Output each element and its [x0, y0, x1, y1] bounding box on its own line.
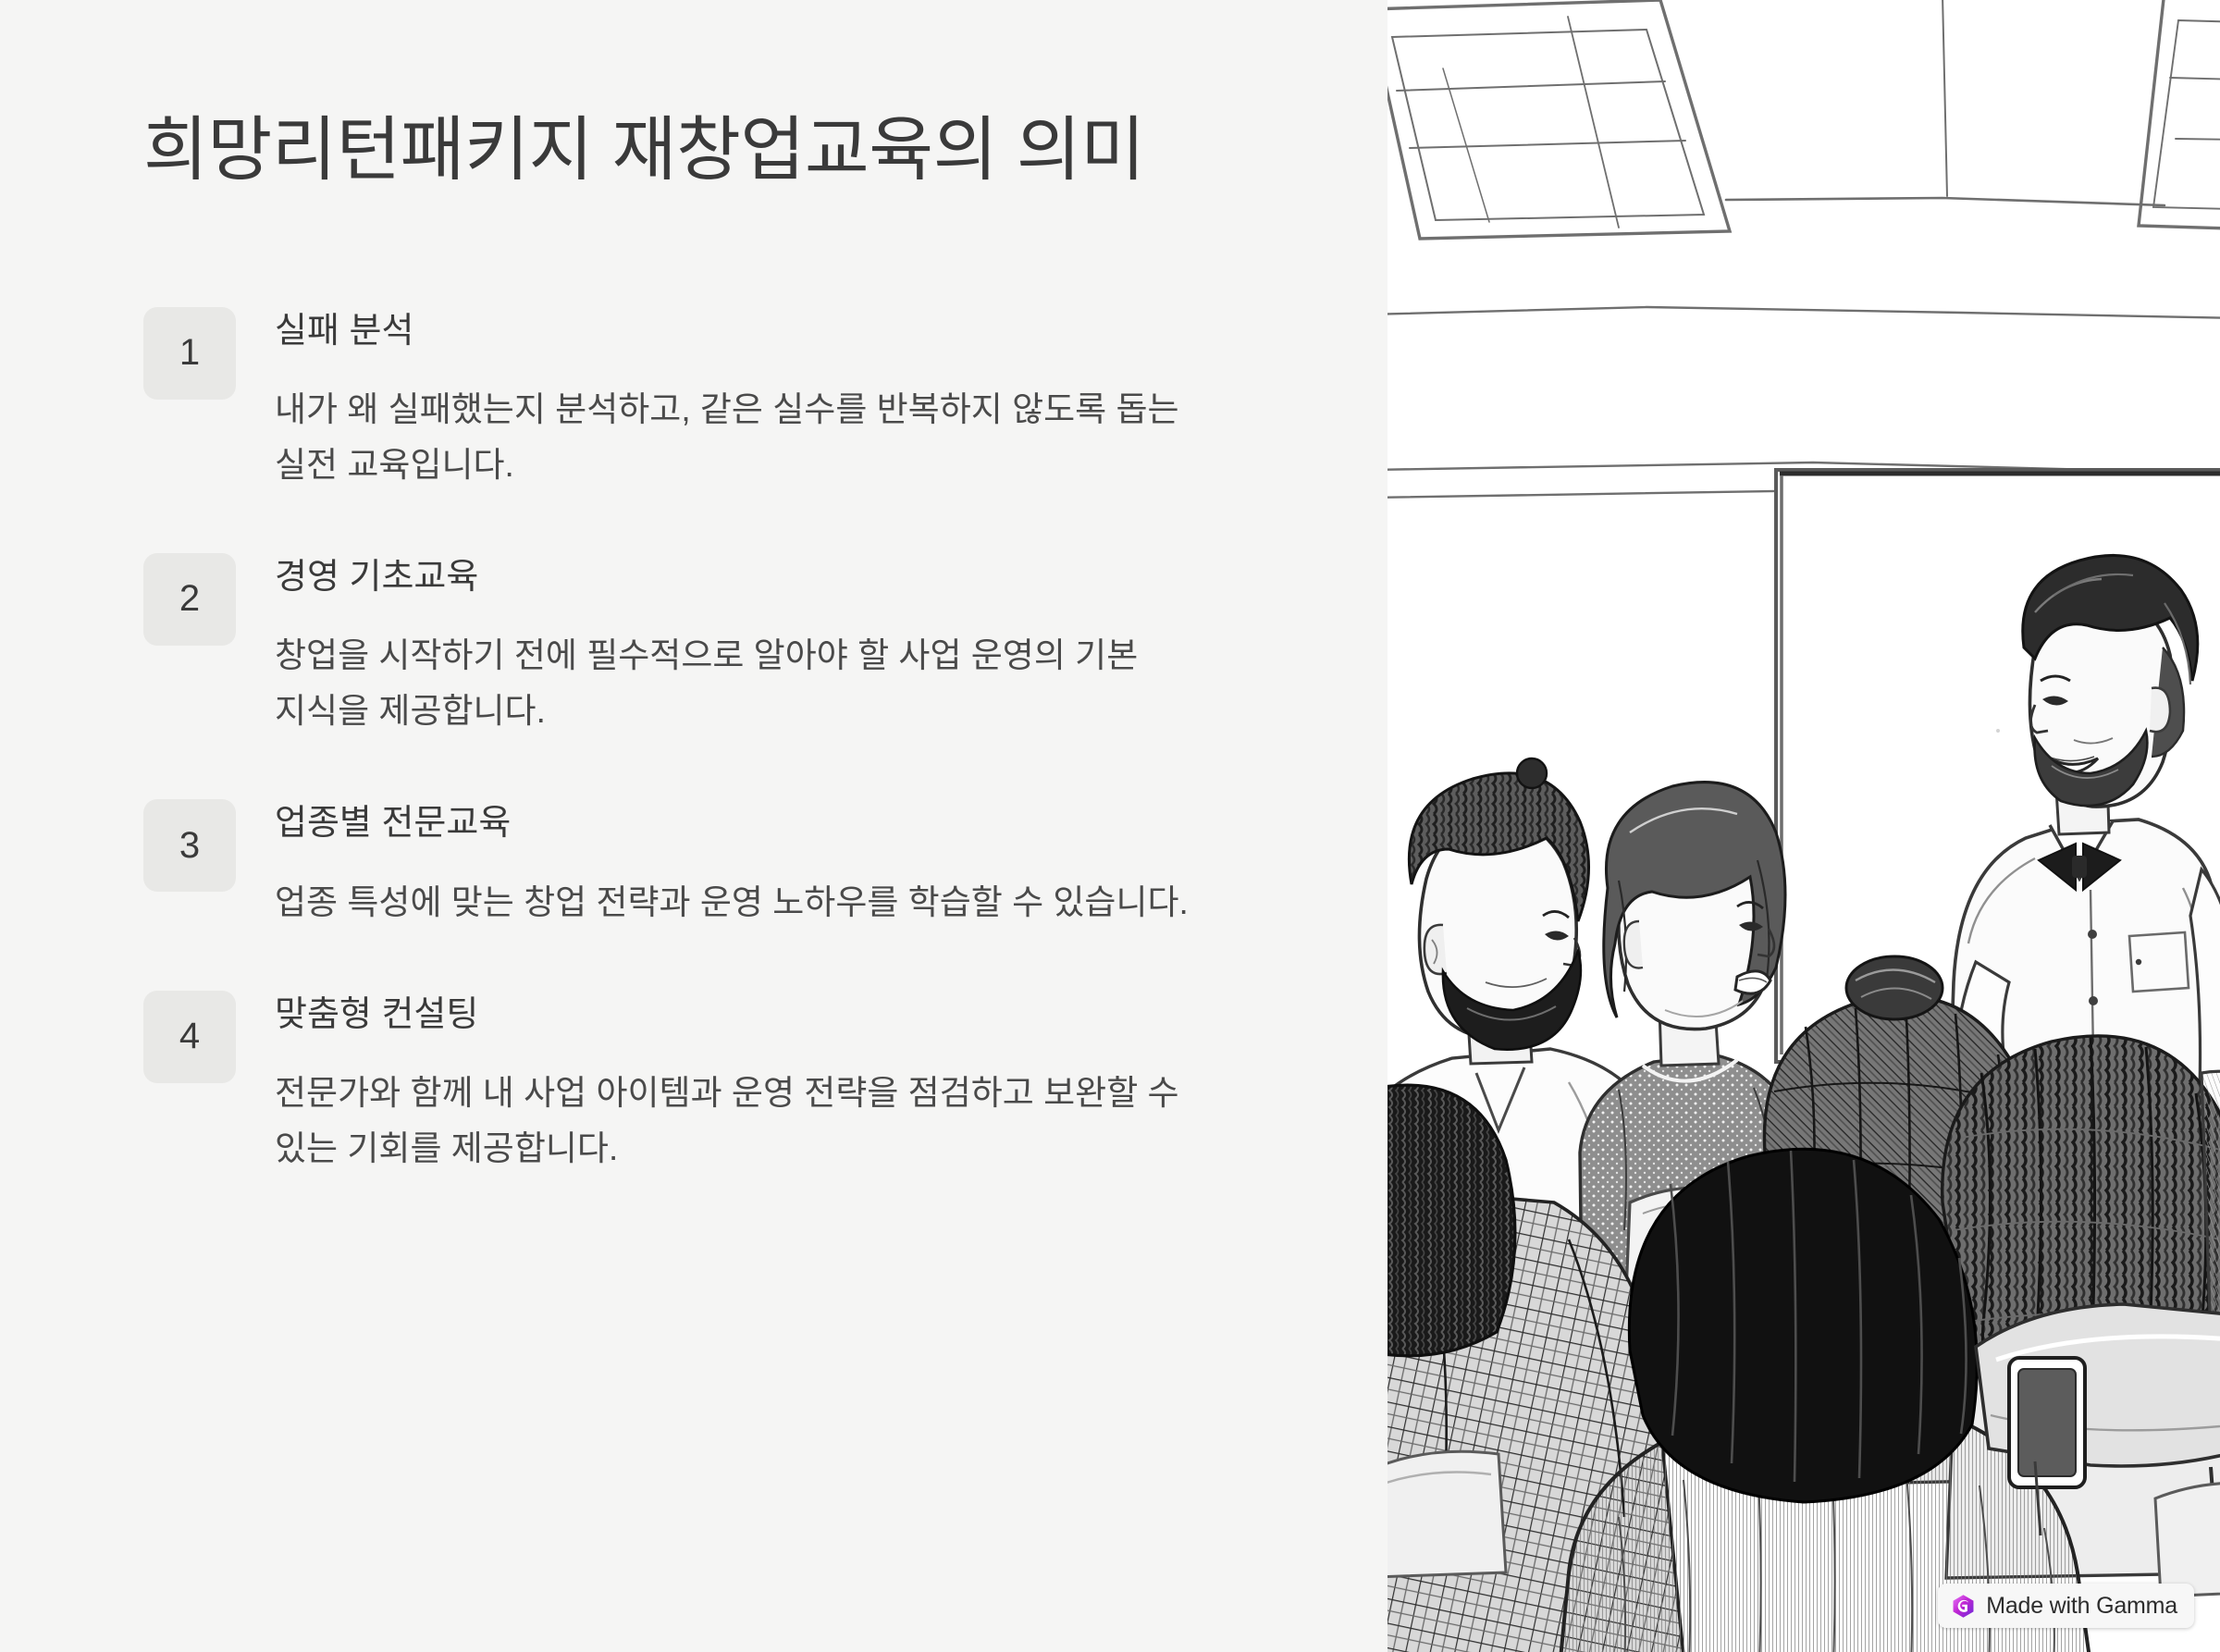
list-item-number-badge: 3: [143, 799, 236, 892]
list-item-heading: 경영 기초교육: [275, 555, 1237, 600]
list-item: 2 경영 기초교육 창업을 시작하기 전에 필수적으로 알아야 할 사업 운영의…: [143, 551, 1239, 739]
list-item-body: 경영 기초교육 창업을 시작하기 전에 필수적으로 알아야 할 사업 운영의 기…: [275, 551, 1237, 739]
made-with-gamma-badge[interactable]: Made with Gamma: [1938, 1584, 2194, 1628]
list-item-body: 실패 분석 내가 왜 실패했는지 분석하고, 같은 실수를 반복하지 않도록 돕…: [275, 305, 1237, 493]
list-item-number-badge: 2: [143, 553, 236, 646]
illustration-panel: Made with Gamma: [1387, 0, 2220, 1652]
list-item: 4 맞춤형 컨설팅 전문가와 함께 내 사업 아이템과 운영 전략을 점검하고 …: [143, 989, 1239, 1177]
list-item: 1 실패 분석 내가 왜 실패했는지 분석하고, 같은 실수를 반복하지 않도록…: [143, 305, 1239, 493]
numbered-list: 1 실패 분석 내가 왜 실패했는지 분석하고, 같은 실수를 반복하지 않도록…: [143, 305, 1239, 1177]
content-panel: 희망리턴패키지 재창업교육의 의미 1 실패 분석 내가 왜 실패했는지 분석하…: [0, 0, 1387, 1652]
gamma-badge-label: Made with Gamma: [1986, 1593, 2177, 1620]
classroom-illustration: [1387, 0, 2220, 1652]
slide-root: 희망리턴패키지 재창업교육의 의미 1 실패 분석 내가 왜 실패했는지 분석하…: [0, 0, 2220, 1652]
list-item-heading: 업종별 전문교육: [275, 801, 1237, 846]
list-item-number-badge: 1: [143, 307, 236, 400]
list-item-heading: 맞춤형 컨설팅: [275, 992, 1237, 1038]
list-item-description: 내가 왜 실패했는지 분석하고, 같은 실수를 반복하지 않도록 돕는 실전 교…: [275, 382, 1237, 493]
page-title: 희망리턴패키지 재창업교육의 의미: [143, 109, 1179, 192]
list-item-body: 업종별 전문교육 업종 특성에 맞는 창업 전략과 운영 노하우를 학습할 수 …: [275, 797, 1237, 930]
list-item-description: 업종 특성에 맞는 창업 전략과 운영 노하우를 학습할 수 있습니다.: [275, 875, 1237, 931]
list-item-body: 맞춤형 컨설팅 전문가와 함께 내 사업 아이템과 운영 전략을 점검하고 보완…: [275, 989, 1237, 1177]
gamma-logo: [1951, 1594, 1976, 1619]
list-item-heading: 실패 분석: [275, 309, 1237, 354]
list-item-description: 창업을 시작하기 전에 필수적으로 알아야 할 사업 운영의 기본 지식을 제공…: [275, 628, 1237, 739]
list-item-number-badge: 4: [143, 991, 236, 1083]
list-item: 3 업종별 전문교육 업종 특성에 맞는 창업 전략과 운영 노하우를 학습할 …: [143, 797, 1239, 930]
list-item-description: 전문가와 함께 내 사업 아이템과 운영 전략을 점검하고 보완할 수 있는 기…: [275, 1066, 1237, 1177]
